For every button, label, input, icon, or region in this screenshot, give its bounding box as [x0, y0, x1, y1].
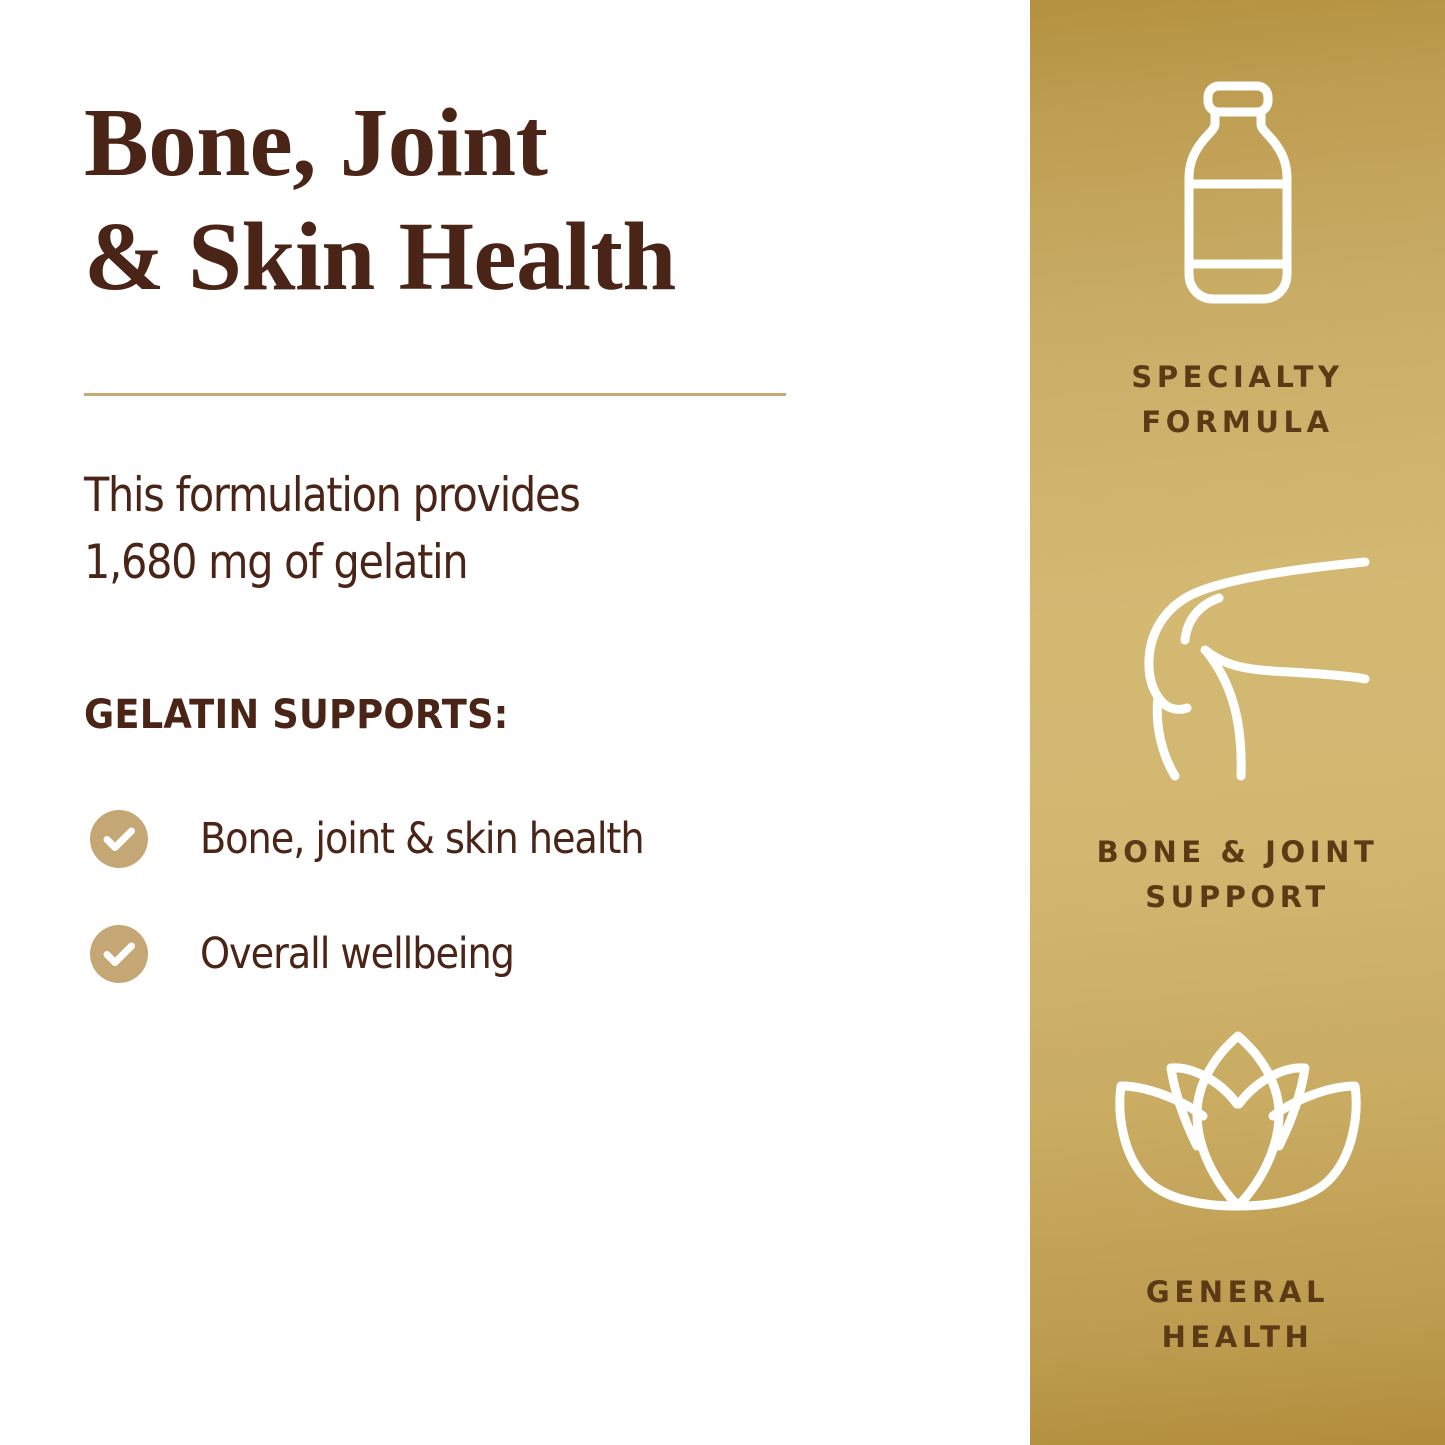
benefits-list: Bone, joint & skin health Overall wellbe… [90, 810, 910, 1040]
intro-line-2: 1,680 mg of gelatin [84, 529, 770, 596]
feature-label-line-1: GENERAL [1146, 1270, 1329, 1315]
list-item-label: Bone, joint & skin health [200, 818, 644, 861]
divider [84, 393, 786, 396]
feature-general-health: GENERAL HEALTH [1030, 1028, 1445, 1360]
intro-paragraph: This formulation provides 1,680 mg of ge… [84, 462, 770, 596]
page-title-line-1: Bone, Joint [84, 86, 904, 200]
feature-panel: SPECIALTY FORMULA [1030, 0, 1445, 1445]
feature-specialty-formula: SPECIALTY FORMULA [1030, 78, 1445, 445]
feature-label: GENERAL HEALTH [1146, 1270, 1329, 1360]
page-title-line-2: & Skin Health [84, 200, 904, 314]
feature-label: SPECIALTY FORMULA [1131, 355, 1343, 445]
content-pane: Bone, Joint & Skin Health This formulati… [0, 0, 1030, 1445]
intro-line-1: This formulation provides [84, 462, 770, 529]
list-item-label: Overall wellbeing [200, 933, 514, 976]
feature-label-line-2: FORMULA [1131, 400, 1343, 445]
feature-bone-joint-support: BONE & JOINT SUPPORT [1030, 548, 1445, 920]
feature-label-line-2: HEALTH [1146, 1315, 1329, 1360]
check-icon [90, 810, 148, 868]
check-icon [90, 925, 148, 983]
feature-label-line-1: SPECIALTY [1131, 355, 1343, 400]
list-item: Overall wellbeing [90, 925, 910, 983]
feature-label-line-2: SUPPORT [1097, 875, 1379, 920]
knee-joint-icon [1103, 548, 1373, 788]
supports-heading: GELATIN SUPPORTS: [84, 692, 509, 738]
lotus-flower-icon [1093, 1028, 1383, 1218]
list-item: Bone, joint & skin health [90, 810, 910, 868]
feature-label: BONE & JOINT SUPPORT [1097, 830, 1379, 920]
supplement-bottle-icon [1163, 78, 1313, 313]
feature-label-line-1: BONE & JOINT [1097, 830, 1379, 875]
product-benefits-infographic: Bone, Joint & Skin Health This formulati… [0, 0, 1445, 1445]
page-title: Bone, Joint & Skin Health [84, 86, 904, 315]
